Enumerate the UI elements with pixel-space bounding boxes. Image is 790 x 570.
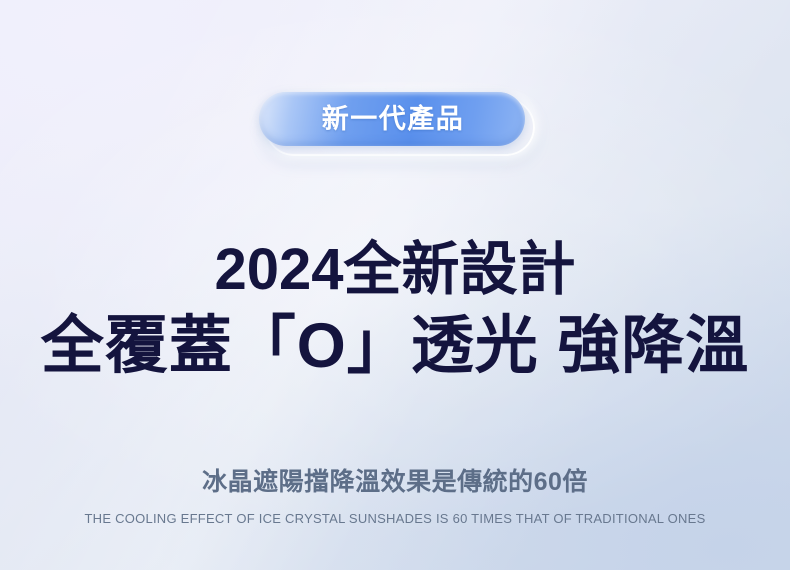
promo-poster: 新一代產品 2024全新設計 全覆蓋「O」透光 強降溫 冰晶遮陽擋降溫效果是傳統… [0,0,790,570]
english-caption-text: THE COOLING EFFECT OF ICE CRYSTAL SUNSHA… [0,510,790,528]
headline-line-2: 全覆蓋「O」透光 強降溫 [0,308,790,384]
badge-stack: 新一代產品 [259,92,531,152]
badge-label: 新一代產品 [320,106,465,133]
new-generation-badge: 新一代產品 [0,92,790,152]
headline-line-1: 2024全新設計 [0,236,790,304]
badge-pill: 新一代產品 [259,92,525,146]
subtitle-text: 冰晶遮陽擋降溫效果是傳統的60倍 [0,466,790,498]
headline-block: 2024全新設計 全覆蓋「O」透光 強降溫 [0,236,790,384]
